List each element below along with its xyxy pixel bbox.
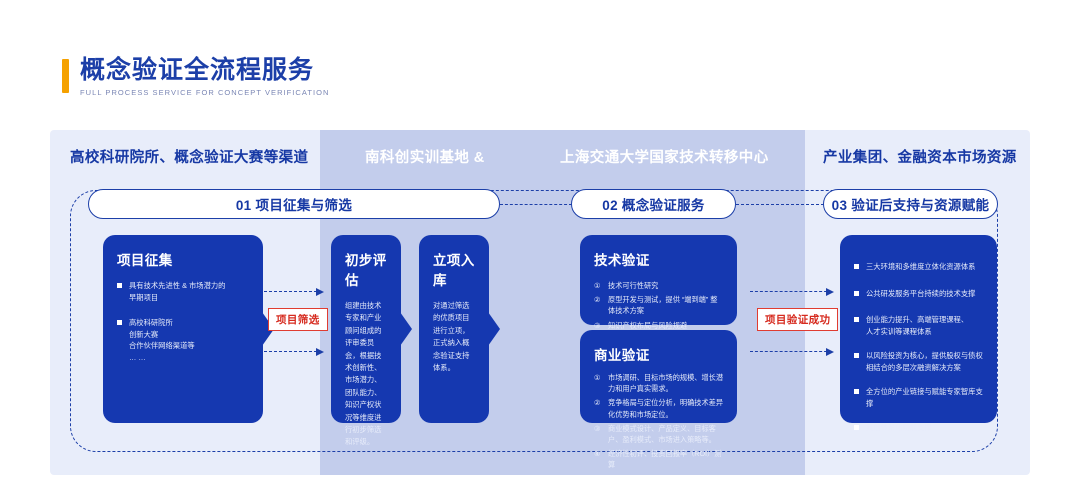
- list-item: 具有技术先进性 & 市场潜力的 早期项目: [117, 280, 249, 303]
- title-chinese: 概念验证全流程服务: [80, 57, 330, 84]
- bullet-line: 创业能力提升、高端管理课程、: [866, 314, 983, 326]
- business-numbered-list: ①市场调研、目标市场的规模、增长潜力和用户真实需求。 ②竞争格局与定位分析，明确…: [594, 372, 723, 471]
- list-item: 其他体系化功能支撑: [854, 422, 983, 434]
- card-arrow-notch: [488, 312, 500, 346]
- list-index: ①: [594, 280, 600, 291]
- list-index: ①: [594, 372, 600, 383]
- list-text: 市场调研、目标市场的规模、增长潜力和用户真实需求。: [608, 373, 723, 393]
- bullet-line: … …: [129, 352, 249, 364]
- column-header-base: 南科创实训基地 &: [365, 146, 485, 167]
- bullet-line: 早期项目: [129, 292, 249, 304]
- list-index: ②: [594, 294, 600, 305]
- bullet-line: 以风险投资为核心，提供股权与债权: [866, 350, 983, 362]
- column-header-channels: 高校科研院所、概念验证大赛等渠道: [70, 146, 308, 167]
- column-header-capital: 产业集团、金融资本市场资源: [823, 146, 1017, 167]
- list-item: 公共研发服务平台持续的技术支撑: [854, 288, 983, 300]
- list-item: ②原型开发与测试，提供 “端到端” 整体技术方案: [594, 294, 723, 316]
- card-title-collection: 项目征集: [117, 249, 249, 269]
- card-body-approval: 对通过筛选的优质项目进行立项，正式纳入概念验证支持体系。: [433, 300, 475, 374]
- column-header-sjtu: 上海交通大学国家技术转移中心: [560, 146, 769, 167]
- title-english: FULL PROCESS SERVICE FOR CONCEPT VERIFIC…: [80, 88, 330, 97]
- list-text: 商业模式设计、产品定义、目标客户、盈利模式、市场进入策略等。: [608, 424, 716, 444]
- card-preliminary-evaluation[interactable]: 初步评估 组建由技术专家和产业顾问组成的评审委员会，根据技术创新性、市场潜力、团…: [331, 235, 401, 423]
- list-text: 经济性初评、投资回报率（ROI）测算: [608, 449, 721, 469]
- list-item: 三大环境和多维度立体化资源体系: [854, 261, 983, 273]
- bullet-line: 创新大赛: [129, 329, 249, 341]
- list-text: 技术可行性研究: [608, 281, 658, 290]
- collection-bullet-list: 具有技术先进性 & 市场潜力的 早期项目 高校科研院所 创新大赛 合作伙伴网络渠…: [117, 280, 249, 363]
- list-item: 以风险投资为核心，提供股权与债权 相结合的多层次融资解决方案: [854, 350, 983, 373]
- support-bullet-list: 三大环境和多维度立体化资源体系 公共研发服务平台持续的技术支撑 创业能力提升、高…: [854, 261, 983, 434]
- list-text: 竞争格局与定位分析，明确技术差异化优势和市场定位。: [608, 398, 723, 418]
- card-title-business: 商业验证: [594, 344, 723, 364]
- card-arrow-notch: [400, 312, 412, 346]
- stage-pill-01[interactable]: 01 项目征集与筛选: [88, 189, 500, 219]
- list-text: 知识产权布局与风险规避: [608, 321, 687, 330]
- list-item: ②竞争格局与定位分析，明确技术差异化优势和市场定位。: [594, 397, 723, 419]
- stage-connector-01-02: [500, 204, 572, 205]
- card-title-technical: 技术验证: [594, 249, 723, 269]
- stage-pill-02[interactable]: 02 概念验证服务: [571, 189, 736, 219]
- card-business-validation[interactable]: 商业验证 ①市场调研、目标市场的规模、增长潜力和用户真实需求。 ②竞争格局与定位…: [580, 330, 737, 423]
- card-body-evaluation: 组建由技术专家和产业顾问组成的评审委员会，根据技术创新性、市场潜力、团队能力、知…: [345, 300, 387, 449]
- infographic-canvas: 概念验证全流程服务 FULL PROCESS SERVICE FOR CONCE…: [0, 0, 1080, 498]
- annotation-validation-success: 项目验证成功: [757, 308, 838, 331]
- list-item: 全方位的产业链接与赋能专家智库支撑: [854, 386, 983, 409]
- stage-pill-03[interactable]: 03 验证后支持与资源赋能: [823, 189, 998, 219]
- bullet-line: 其他体系化功能支撑: [866, 422, 983, 434]
- list-index: ②: [594, 397, 600, 408]
- bullet-line: 三大环境和多维度立体化资源体系: [866, 261, 983, 273]
- list-item: ①技术可行性研究: [594, 280, 723, 291]
- annotation-project-screening: 项目筛选: [268, 308, 328, 331]
- bullet-line: 公共研发服务平台持续的技术支撑: [866, 288, 983, 300]
- card-project-collection[interactable]: 项目征集 具有技术先进性 & 市场潜力的 早期项目 高校科研院所 创新大赛 合作…: [103, 235, 263, 423]
- list-text: 原型开发与测试，提供 “端到端” 整体技术方案: [608, 295, 717, 315]
- card-title-evaluation: 初步评估: [345, 249, 387, 289]
- card-project-approval[interactable]: 立项入库 对通过筛选的优质项目进行立项，正式纳入概念验证支持体系。: [419, 235, 489, 423]
- bullet-line: 人才实训等课程体系: [866, 326, 983, 338]
- card-post-validation-support[interactable]: 三大环境和多维度立体化资源体系 公共研发服务平台持续的技术支撑 创业能力提升、高…: [840, 235, 997, 423]
- card-title-approval: 立项入库: [433, 249, 475, 289]
- card-technical-validation[interactable]: 技术验证 ①技术可行性研究 ②原型开发与测试，提供 “端到端” 整体技术方案 ③…: [580, 235, 737, 325]
- bullet-line: 全方位的产业链接与赋能专家智库支撑: [866, 386, 983, 409]
- list-item: 创业能力提升、高端管理课程、 人才实训等课程体系: [854, 314, 983, 337]
- bullet-line: 具有技术先进性 & 市场潜力的: [129, 280, 249, 292]
- list-index: ③: [594, 423, 600, 434]
- bullet-line: 高校科研院所: [129, 317, 249, 329]
- title-accent-bar: [62, 59, 69, 93]
- bullet-line: 合作伙伴网络渠道等: [129, 340, 249, 352]
- page-title: 概念验证全流程服务 FULL PROCESS SERVICE FOR CONCE…: [62, 57, 330, 97]
- flow-arrow-validation-to-support-bottom: [750, 351, 832, 352]
- flow-arrow-collection-to-evaluation-top: [264, 291, 322, 292]
- list-item: ①市场调研、目标市场的规模、增长潜力和用户真实需求。: [594, 372, 723, 394]
- flow-arrow-validation-to-support-top: [750, 291, 832, 292]
- bullet-line: 相结合的多层次融资解决方案: [866, 362, 983, 374]
- flow-arrow-collection-to-evaluation-bottom: [264, 351, 322, 352]
- list-index: ④: [594, 448, 600, 459]
- list-item: ③商业模式设计、产品定义、目标客户、盈利模式、市场进入策略等。: [594, 423, 723, 445]
- stage-connector-02-03: [736, 204, 824, 205]
- list-item: ④经济性初评、投资回报率（ROI）测算: [594, 448, 723, 470]
- list-item: 高校科研院所 创新大赛 合作伙伴网络渠道等 … …: [117, 317, 249, 363]
